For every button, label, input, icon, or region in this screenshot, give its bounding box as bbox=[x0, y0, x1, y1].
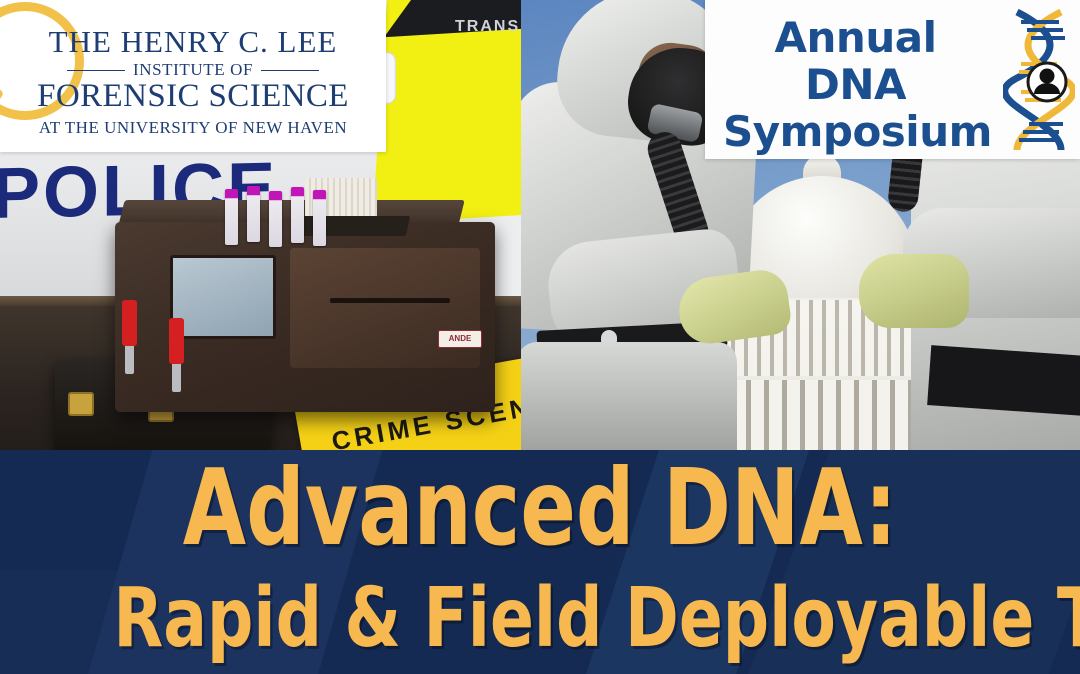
logo-rule-left bbox=[67, 70, 125, 71]
symposium-title-line1: Annual DNA bbox=[723, 14, 988, 108]
logo-line-4: AT THE UNIVERSITY OF NEW HAVEN bbox=[0, 118, 386, 138]
sample-tube bbox=[247, 186, 260, 242]
van-model-badge: TRANSIT bbox=[455, 18, 521, 36]
logo-line-2-row: INSTITUTE OF bbox=[0, 60, 386, 80]
analyzer-cartridge-slot bbox=[330, 298, 450, 303]
sample-tube bbox=[225, 189, 238, 245]
analyzer-brand-label: ANDE bbox=[438, 330, 482, 348]
sample-tube bbox=[291, 187, 304, 243]
title-banner: Advanced DNA: Rapid & Field Deployable T… bbox=[0, 450, 1080, 674]
logo-line-2: INSTITUTE OF bbox=[133, 60, 253, 80]
symposium-title-line2: Symposium bbox=[723, 108, 988, 155]
symposium-title-card: Annual DNA Symposium bbox=[705, 0, 1080, 159]
analyzer-touchscreen bbox=[170, 255, 276, 339]
case-latch-left bbox=[68, 392, 94, 416]
photo-collage: POLICE TRANSIT CRIME SCENE DO NOT CROSS … bbox=[0, 0, 1080, 452]
sample-tube bbox=[269, 191, 282, 247]
red-clamp-upper bbox=[122, 300, 137, 346]
institute-logo-card: THE HENRY C. LEE INSTITUTE OF FORENSIC S… bbox=[0, 0, 386, 152]
logo-rule-right bbox=[261, 70, 319, 71]
logo-line-3: FORENSIC SCIENCE bbox=[0, 78, 386, 115]
sample-tube-rack bbox=[225, 185, 345, 243]
red-clamp-lower bbox=[169, 318, 184, 364]
poster-title-line2: Rapid & Field Deployable Technologies bbox=[113, 578, 966, 660]
logo-line-1: THE HENRY C. LEE bbox=[0, 24, 386, 60]
sample-tube bbox=[313, 190, 326, 246]
analyzer-front-door bbox=[290, 248, 480, 368]
symposium-title: Annual DNA Symposium bbox=[723, 14, 988, 155]
nitrile-glove-right bbox=[859, 254, 969, 328]
poster-title-line1: Advanced DNA: bbox=[119, 456, 961, 561]
dna-helix-icon bbox=[1003, 8, 1075, 154]
event-poster: POLICE TRANSIT CRIME SCENE DO NOT CROSS … bbox=[0, 0, 1080, 674]
hazmat-legs bbox=[521, 342, 737, 452]
